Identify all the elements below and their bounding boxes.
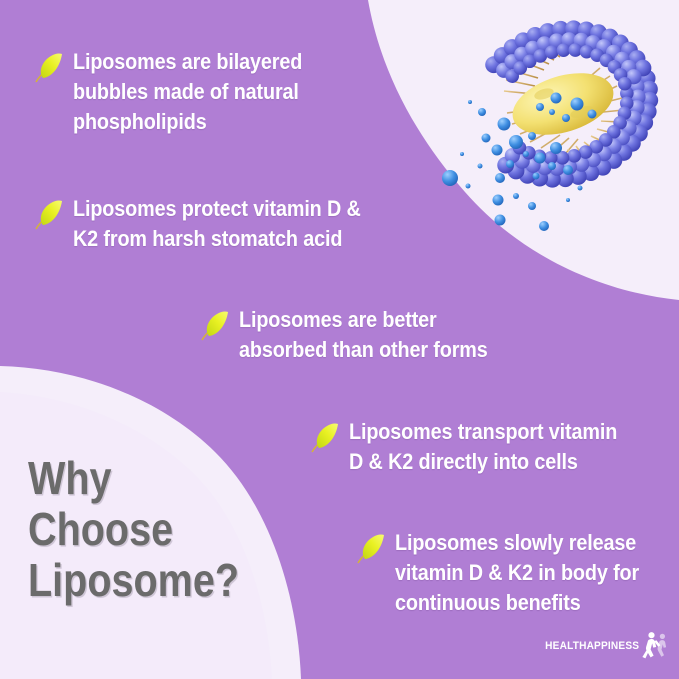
bullet-text: Liposomes are better absorbed than other… bbox=[239, 305, 488, 365]
running-person-icon bbox=[641, 631, 667, 661]
bullet-text: Liposomes slowly release vitamin D & K2 … bbox=[395, 528, 639, 618]
liposome-vesicle-illustration bbox=[440, 8, 676, 240]
brand-logo: HEALTHAPPINESS bbox=[537, 631, 667, 661]
leaf-icon bbox=[310, 422, 340, 455]
bullet-item: Liposomes protect vitamin D & K2 from ha… bbox=[34, 194, 400, 254]
infographic-canvas: Liposomes are bilayered bubbles made of … bbox=[0, 0, 679, 679]
bullet-item: Liposomes slowly release vitamin D & K2 … bbox=[356, 528, 672, 618]
bullet-item: Liposomes are better absorbed than other… bbox=[200, 305, 522, 365]
bullet-item: Liposomes are bilayered bubbles made of … bbox=[34, 47, 333, 137]
bullet-item: Liposomes transport vitamin D & K2 direc… bbox=[310, 417, 654, 477]
bullet-text: Liposomes are bilayered bubbles made of … bbox=[73, 47, 302, 137]
page-title: Why Choose Liposome? bbox=[28, 453, 239, 606]
bullet-text: Liposomes protect vitamin D & K2 from ha… bbox=[73, 194, 361, 254]
brand-name: HEALTHAPPINESS bbox=[545, 640, 639, 652]
leaf-icon bbox=[34, 52, 64, 85]
leaf-icon bbox=[200, 310, 230, 343]
leaf-icon bbox=[356, 533, 386, 566]
leaf-icon bbox=[34, 199, 64, 232]
bullet-text: Liposomes transport vitamin D & K2 direc… bbox=[349, 417, 617, 477]
